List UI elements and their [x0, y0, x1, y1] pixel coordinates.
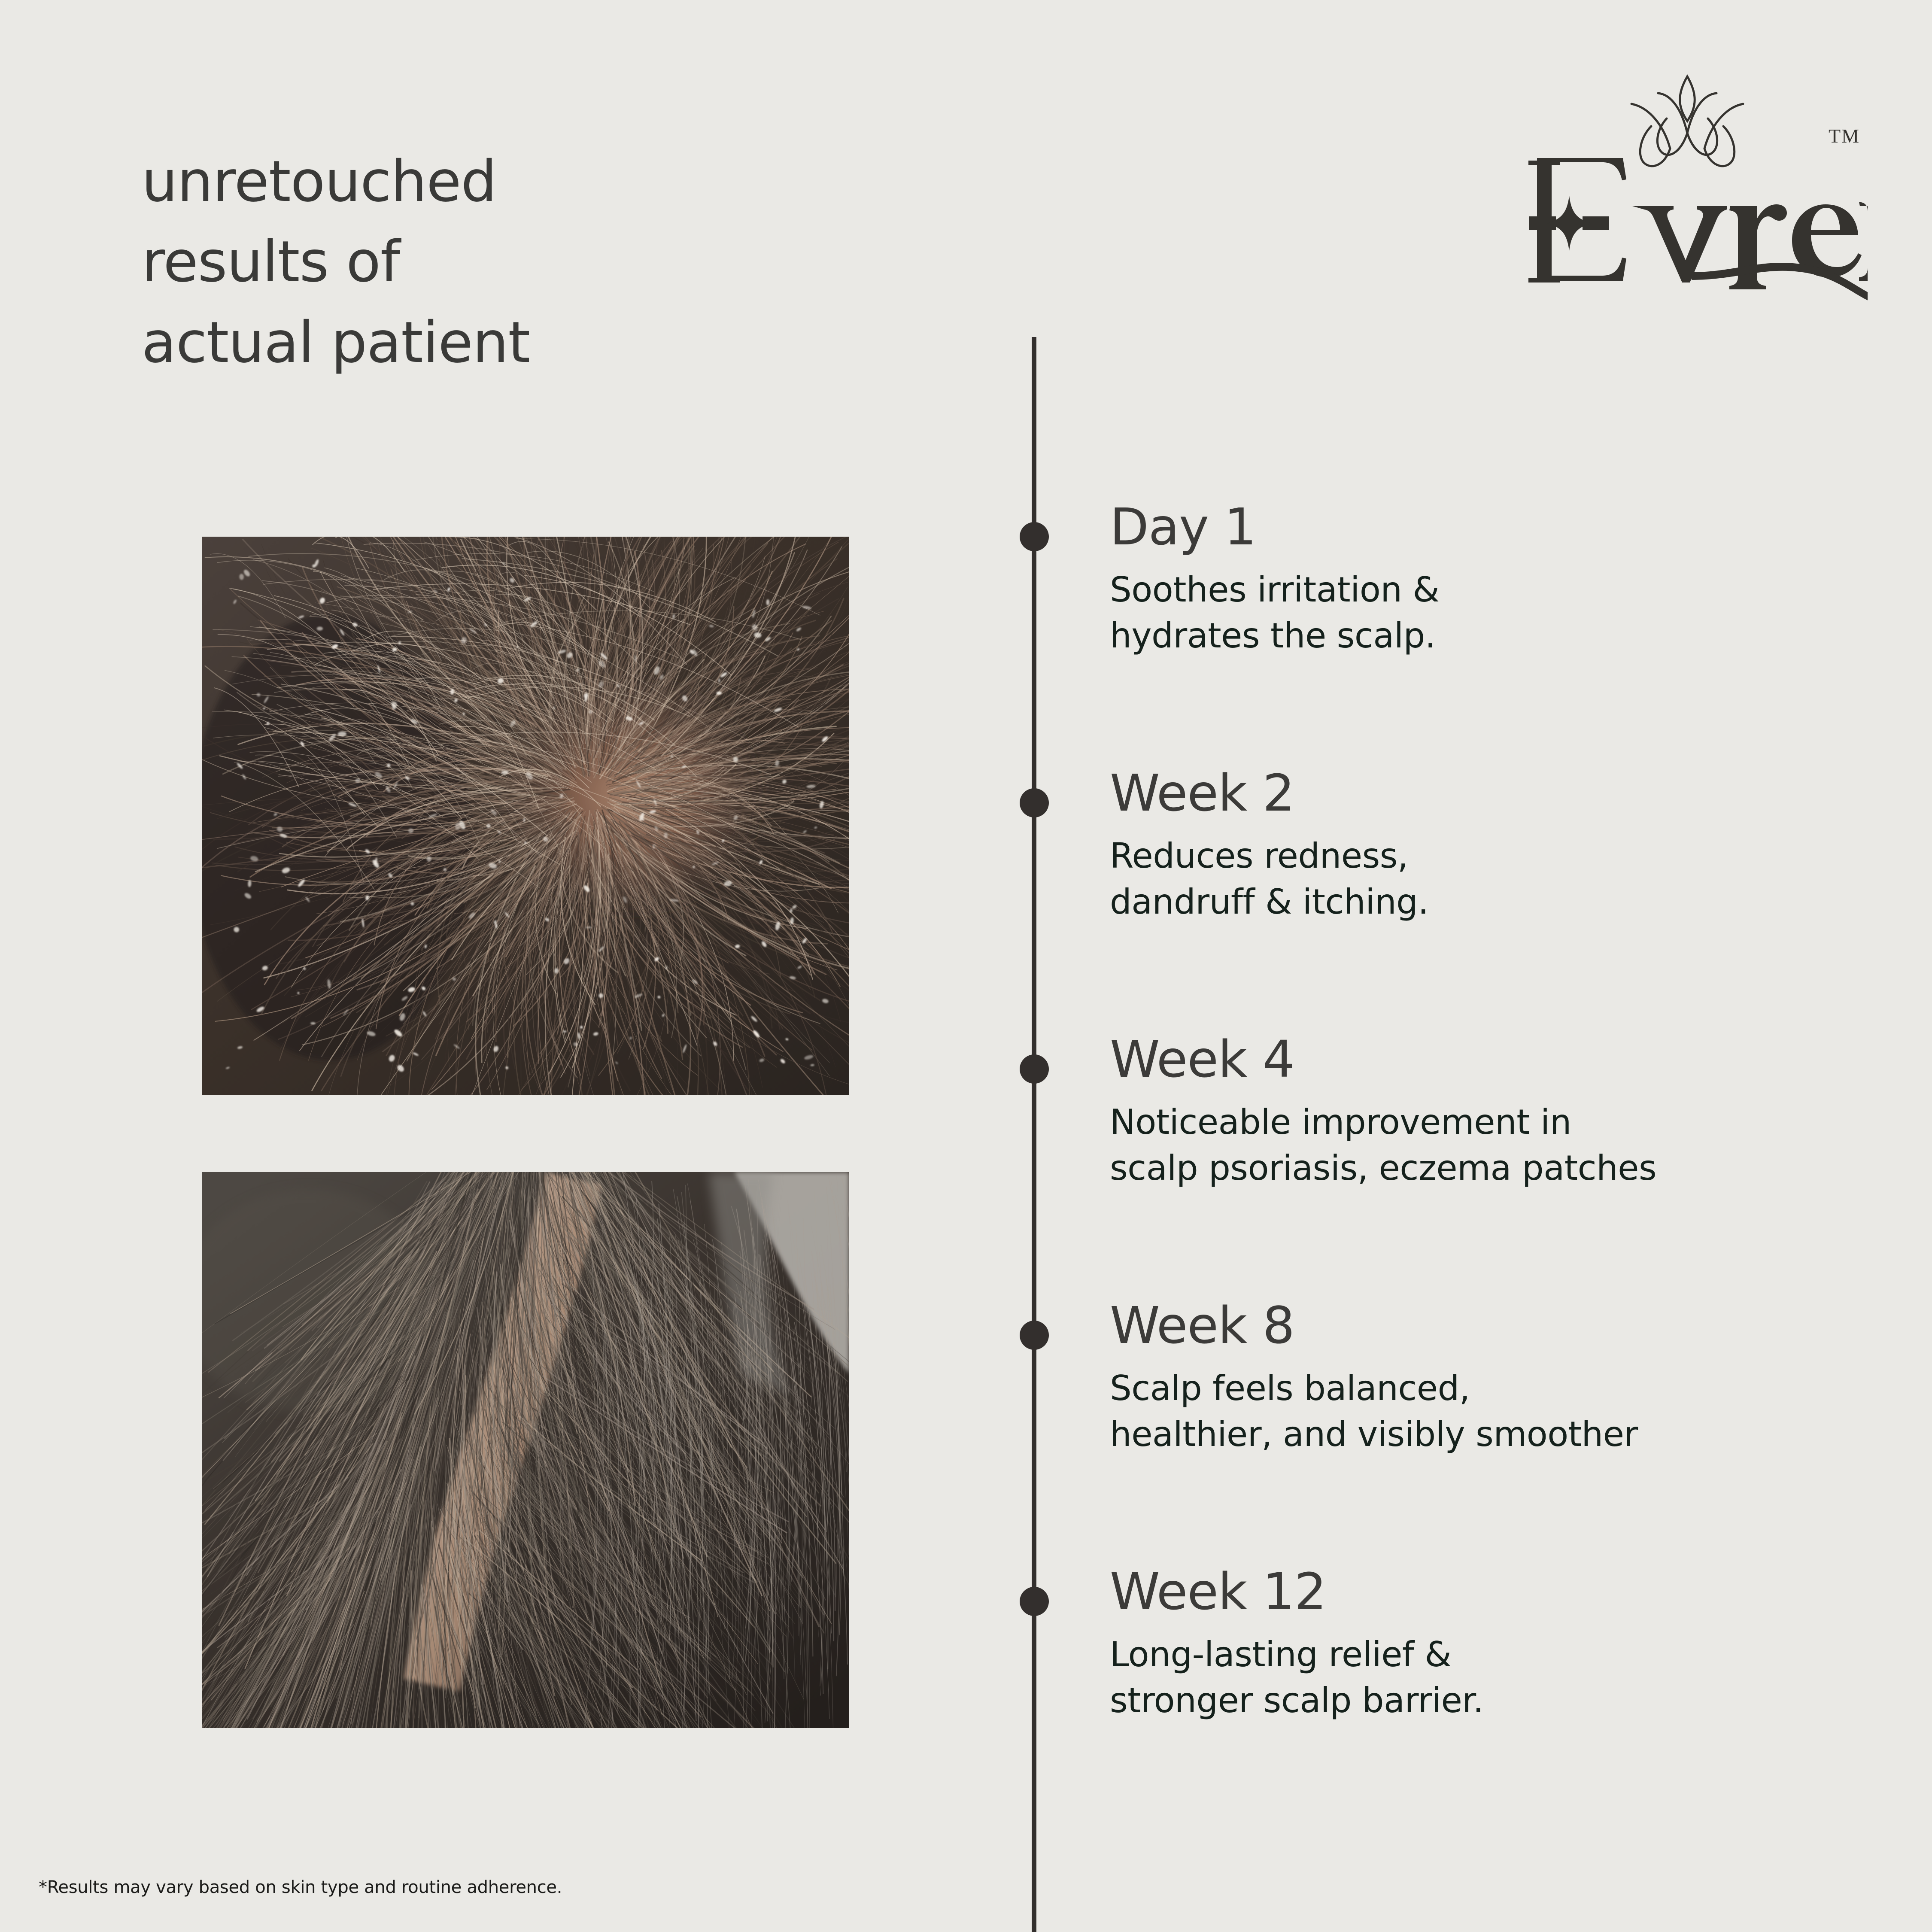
timeline-desc-line: Scalp feels balanced,: [1110, 1365, 1848, 1411]
timeline-desc-line: Long-lasting relief &: [1110, 1631, 1848, 1677]
headline-line-1: unretouched: [142, 142, 957, 222]
brand-wordmark: [1507, 155, 1868, 309]
timeline-dot-3: [1020, 1054, 1049, 1084]
timeline-description: Long-lasting relief & stronger scalp bar…: [1110, 1631, 1848, 1723]
timeline-item-week-4: Week 4 Noticeable improvement in scalp p…: [1110, 1034, 1848, 1191]
brand-logo: TM: [1507, 73, 1868, 313]
timeline-desc-line: Noticeable improvement in: [1110, 1099, 1848, 1145]
timeline-item-day-1: Day 1 Soothes irritation & hydrates the …: [1110, 501, 1848, 659]
four-point-sparkle-icon: [1547, 196, 1591, 251]
before-photo: [202, 537, 849, 1095]
headline-line-3: actual patient: [142, 303, 957, 383]
timeline-description: Scalp feels balanced, healthier, and vis…: [1110, 1365, 1848, 1457]
timeline-item-week-12: Week 12 Long-lasting relief & stronger s…: [1110, 1566, 1848, 1723]
timeline-title: Day 1: [1110, 501, 1848, 552]
trademark-symbol: TM: [1829, 125, 1860, 147]
timeline-desc-line: hydrates the scalp.: [1110, 613, 1848, 659]
timeline-dot-5: [1020, 1587, 1049, 1616]
timeline-title: Week 2: [1110, 768, 1848, 818]
poster-canvas: unretouched results of actual patient: [0, 0, 1932, 1932]
timeline-item-week-8: Week 8 Scalp feels balanced, healthier, …: [1110, 1300, 1848, 1457]
timeline-axis: [1032, 337, 1036, 1932]
page-title: unretouched results of actual patient: [142, 142, 957, 383]
timeline-dot-2: [1020, 788, 1049, 817]
timeline-title: Week 12: [1110, 1566, 1848, 1617]
timeline-description: Reduces redness, dandruff & itching.: [1110, 833, 1848, 925]
timeline-item-week-2: Week 2 Reduces redness, dandruff & itchi…: [1110, 768, 1848, 925]
after-photo: [202, 1172, 849, 1728]
timeline-desc-line: healthier, and visibly smoother: [1110, 1411, 1848, 1457]
timeline-dot-4: [1020, 1321, 1049, 1350]
timeline-title: Week 4: [1110, 1034, 1848, 1084]
timeline-desc-line: Soothes irritation &: [1110, 567, 1848, 613]
timeline-desc-line: scalp psoriasis, eczema patches: [1110, 1145, 1848, 1191]
timeline-description: Soothes irritation & hydrates the scalp.: [1110, 567, 1848, 659]
headline-line-2: results of: [142, 222, 957, 302]
timeline-desc-line: dandruff & itching.: [1110, 879, 1848, 925]
timeline-desc-line: Reduces redness,: [1110, 833, 1848, 879]
timeline-desc-line: stronger scalp barrier.: [1110, 1677, 1848, 1723]
timeline-description: Noticeable improvement in scalp psoriasi…: [1110, 1099, 1848, 1191]
timeline-dot-1: [1020, 522, 1049, 551]
timeline-title: Week 8: [1110, 1300, 1848, 1351]
results-disclaimer: *Results may vary based on skin type and…: [39, 1877, 562, 1898]
